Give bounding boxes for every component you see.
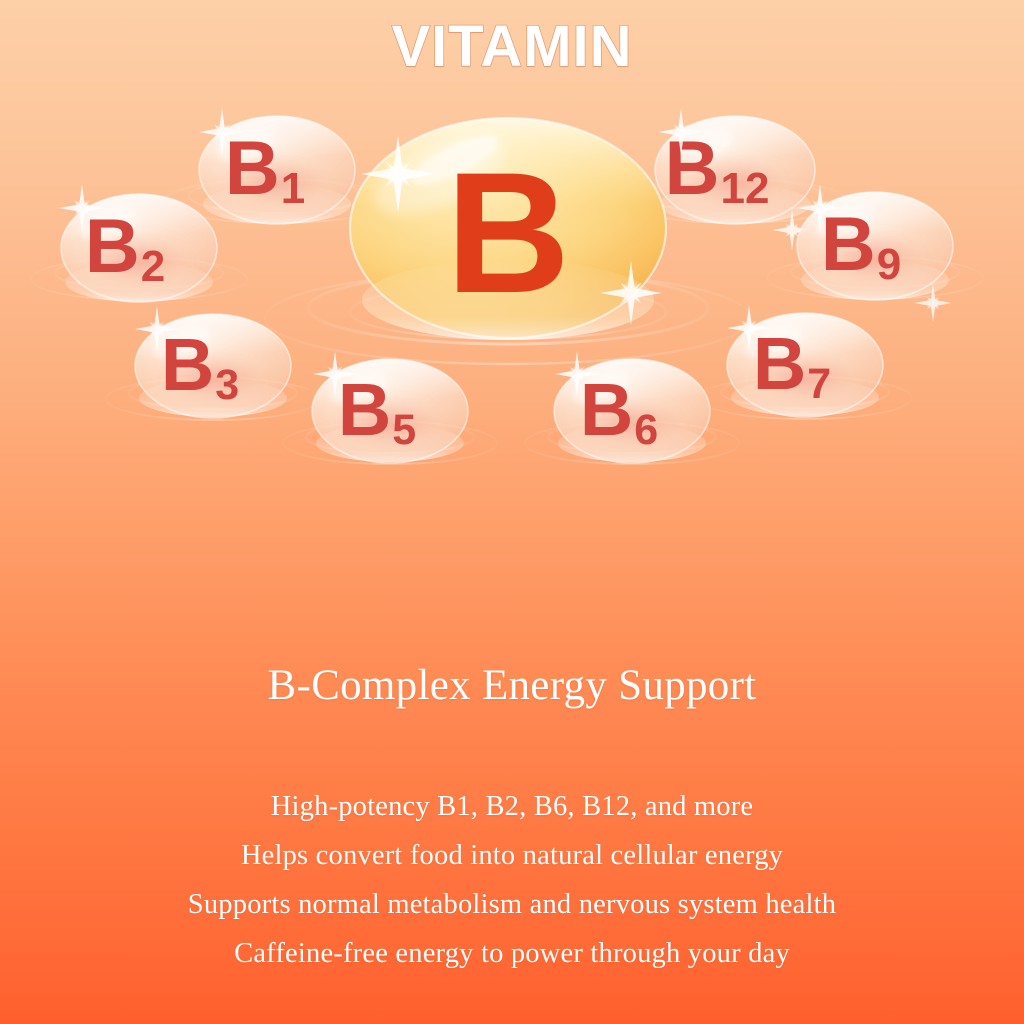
bubble-b3: B3 xyxy=(135,306,291,418)
bubble-b7: B7 xyxy=(727,305,883,417)
main-droplet-b: B xyxy=(350,118,666,340)
bubble-b12: B12 xyxy=(655,108,815,250)
headline: B-Complex Energy Support xyxy=(0,661,1024,710)
bubble-b9-letter: B9 xyxy=(821,202,901,289)
bubble-b5: B5 xyxy=(312,351,468,463)
bubble-b9: B9 xyxy=(797,184,953,322)
benefit-item-2: Helps convert food into natural cellular… xyxy=(0,831,1024,880)
bubble-b6-letter: B6 xyxy=(580,368,658,454)
bubble-b7-letter: B7 xyxy=(753,322,831,408)
bubble-b1-letter: B1 xyxy=(225,126,305,213)
bubble-b2-letter: B2 xyxy=(85,204,165,291)
bubble-b2: B2 xyxy=(59,184,217,302)
bubble-b3-letter: B3 xyxy=(161,323,239,409)
bubble-b12-letter: B12 xyxy=(665,126,770,213)
benefit-item-4: Caffeine-free energy to power through yo… xyxy=(0,929,1024,978)
benefit-item-1: High-potency B1, B2, B6, B12, and more xyxy=(0,782,1024,831)
main-droplet-letter: B xyxy=(446,137,570,329)
ripples xyxy=(31,179,983,464)
bubble-b5-letter: B5 xyxy=(338,368,416,454)
bubble-b6: B6 xyxy=(554,351,710,463)
benefit-list: High-potency B1, B2, B6, B12, and more H… xyxy=(0,782,1024,978)
page-title: VITAMIN xyxy=(0,14,1024,81)
vitamin-b-complex-poster: VITAMIN xyxy=(0,0,1024,1024)
benefit-item-3: Supports normal metabolism and nervous s… xyxy=(0,880,1024,929)
bubble-b1: B1 xyxy=(199,108,355,224)
